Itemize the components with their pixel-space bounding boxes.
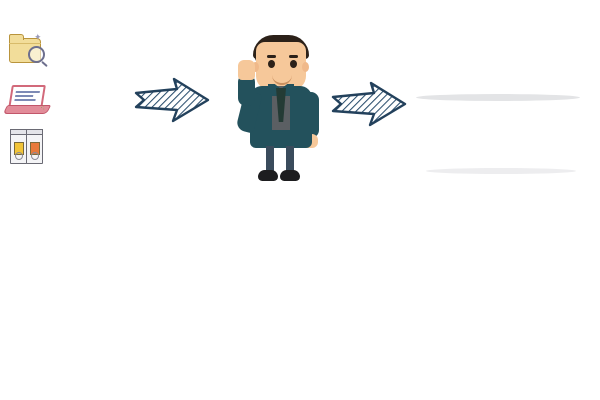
learning-steps-list: ✦ ⁖ bbox=[4, 28, 144, 172]
arrow-right-icon-1 bbox=[133, 76, 211, 128]
poster-canvas: ✦ ⁖ bbox=[0, 0, 600, 400]
folder-search-icon: ✦ bbox=[4, 30, 52, 74]
crowd-business-row bbox=[424, 100, 584, 176]
laptop-icon: ⁖ bbox=[4, 78, 52, 122]
learning-step-item: ✦ bbox=[4, 28, 144, 76]
learning-step-item: ⁖ bbox=[4, 76, 144, 124]
learning-step-item bbox=[4, 124, 144, 172]
businessman-figure bbox=[228, 30, 332, 180]
audience-group bbox=[410, 26, 590, 176]
arrow-right-icon-2 bbox=[330, 80, 408, 132]
crowd-casual-row bbox=[416, 26, 588, 100]
binders-icon bbox=[4, 126, 52, 170]
